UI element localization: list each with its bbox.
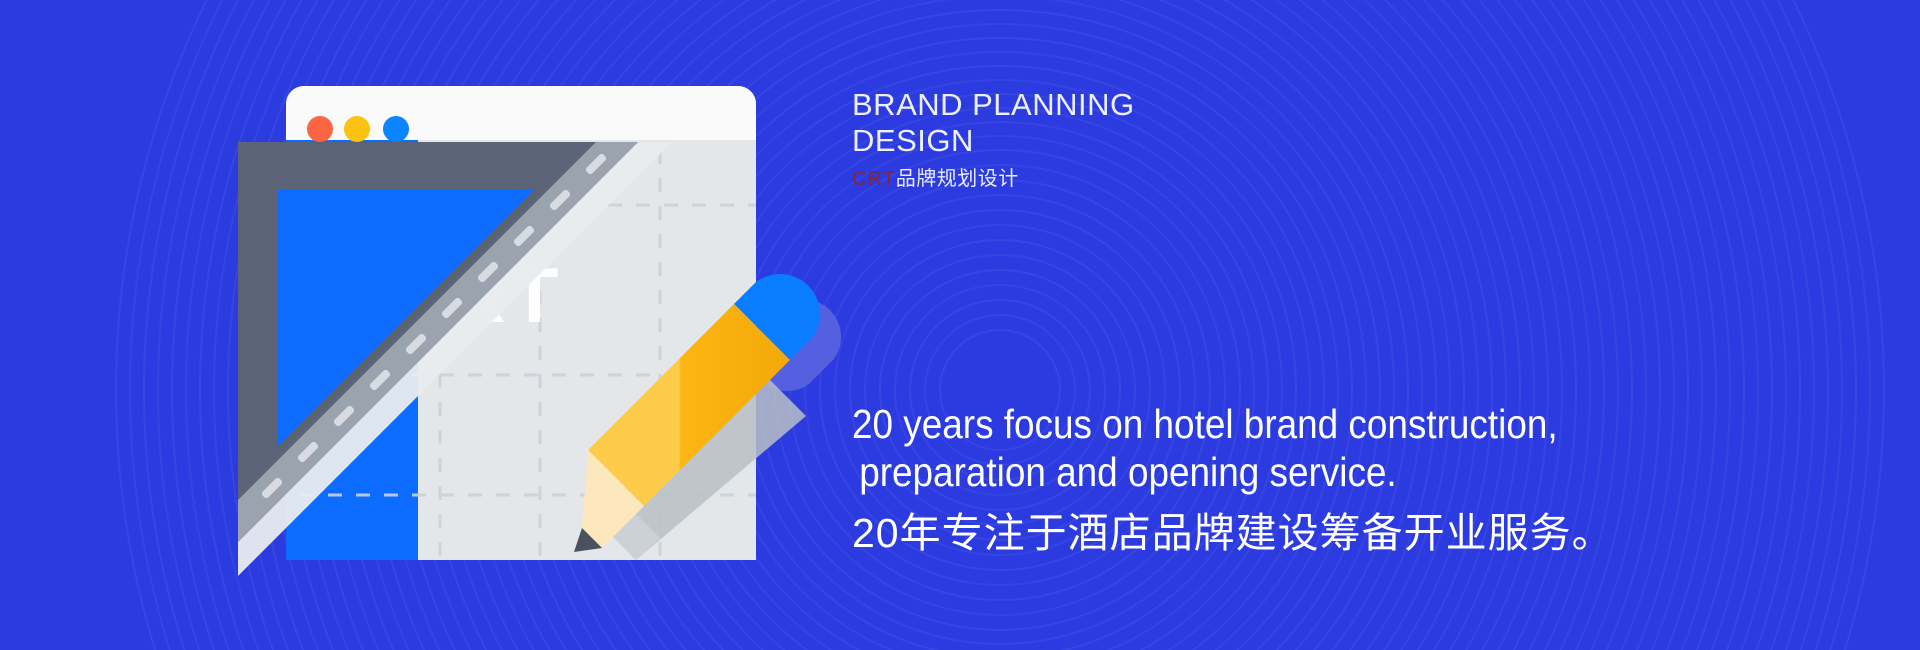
headline-block: 20 years focus on hotel brand constructi… [852,400,1732,558]
banner-copy: BRAND PLANNING DESIGN CRT品牌规划设计 20 years… [852,0,1852,650]
eyebrow-line-1: BRAND PLANNING [852,87,1412,123]
eyebrow-chinese-text: 品牌规划设计 [896,168,1019,190]
eyebrow-line-2: DESIGN [852,123,1412,159]
close-dot[interactable] [307,116,333,142]
brand-banner: CRT [0,0,1920,650]
headline-en-line-2: preparation and opening service. [852,448,1644,496]
maximize-dot[interactable] [383,116,409,142]
eyebrow-chinese: CRT品牌规划设计 [852,167,1412,191]
brand-design-illustration: CRT [0,0,1000,650]
crt-brand-text: CRT [852,168,896,190]
headline-en-line-1: 20 years focus on hotel brand constructi… [852,400,1644,448]
eyebrow-block: BRAND PLANNING DESIGN CRT品牌规划设计 [852,87,1412,191]
minimize-dot[interactable] [344,116,370,142]
headline-chinese: 20年专注于酒店品牌建设筹备开业服务。 [852,508,1732,558]
